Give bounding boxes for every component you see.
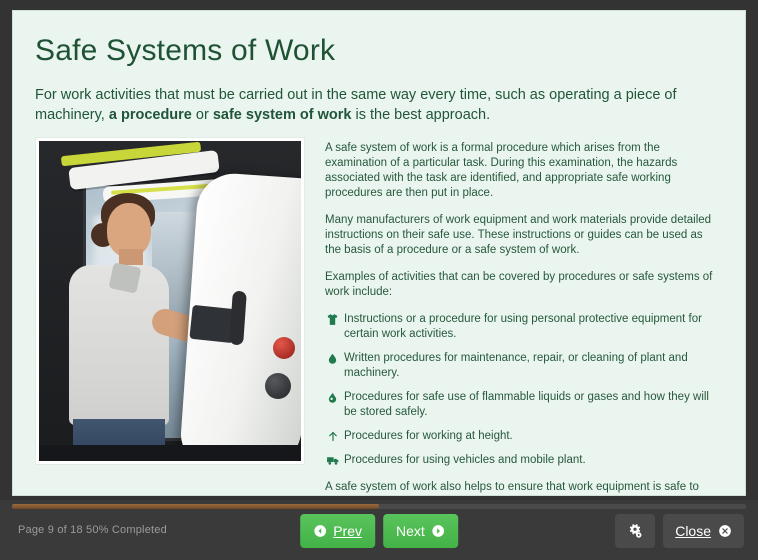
list-item-label: Procedures for using vehicles and mobile…: [344, 454, 586, 466]
list-item-label: Instructions or a procedure for using pe…: [344, 313, 702, 340]
prev-button-label: Prev: [333, 523, 362, 539]
close-button[interactable]: Close: [663, 514, 744, 548]
next-button[interactable]: Next: [383, 514, 458, 548]
arrow-circle-right-icon: [431, 524, 445, 538]
player-controls: Close: [615, 514, 744, 548]
settings-button[interactable]: [615, 514, 655, 548]
course-player: Safe Systems of Work For work activities…: [0, 0, 758, 560]
arrow-circle-left-icon: [313, 524, 327, 538]
slide-panel: Safe Systems of Work For work activities…: [12, 10, 746, 496]
worker-machine-photo: [39, 141, 301, 461]
machine-knob: [265, 373, 291, 399]
emergency-stop-button: [273, 337, 295, 359]
cogs-icon: [627, 523, 643, 539]
times-circle-icon: [718, 524, 732, 538]
body-paragraph-1: A safe system of work is a formal proced…: [325, 141, 719, 201]
prev-button[interactable]: Prev: [300, 514, 375, 548]
up-arrow-icon: [325, 429, 340, 444]
list-item: Procedures for using vehicles and mobile…: [325, 453, 719, 468]
body-paragraph-2: Many manufacturers of work equipment and…: [325, 213, 719, 258]
list-item-label: Procedures for safe use of flammable liq…: [344, 391, 709, 418]
intro-bold-2: safe system of work: [213, 107, 352, 123]
list-item: Procedures for safe use of flammable liq…: [325, 390, 719, 420]
intro-text-2: is the best approach.: [351, 107, 490, 123]
next-button-label: Next: [396, 523, 425, 539]
intro-bold-1: a procedure: [109, 107, 192, 123]
progress-bar-fill: [12, 504, 379, 509]
page-title: Safe Systems of Work: [35, 33, 719, 69]
intro-paragraph: For work activities that must be carried…: [35, 85, 719, 125]
flammable-droplet-icon: [325, 390, 340, 405]
slide-body-copy: A safe system of work is a formal proced…: [325, 137, 719, 496]
slide-image-frame: [35, 137, 305, 465]
droplet-icon: [325, 351, 340, 366]
truck-icon: [325, 453, 340, 468]
tshirt-icon: [325, 312, 340, 327]
list-item: Instructions or a procedure for using pe…: [325, 312, 719, 342]
progress-status-text: Page 9 of 18 50% Completed: [18, 524, 167, 536]
list-item-label: Procedures for working at height.: [344, 430, 513, 442]
list-item: Procedures for working at height.: [325, 429, 719, 444]
list-item-label: Written procedures for maintenance, repa…: [344, 352, 688, 379]
floor: [39, 445, 301, 461]
examples-list: Instructions or a procedure for using pe…: [325, 312, 719, 468]
intro-text-mid: or: [192, 107, 213, 123]
navigation-buttons: Prev Next: [300, 514, 458, 548]
list-item: Written procedures for maintenance, repa…: [325, 351, 719, 381]
body-paragraph-3: Examples of activities that can be cover…: [325, 270, 719, 300]
person-collar: [109, 262, 142, 293]
close-button-label: Close: [675, 523, 711, 539]
progress-bar[interactable]: [12, 504, 746, 509]
player-toolbar: Page 9 of 18 50% Completed Prev Next: [0, 500, 758, 560]
closing-paragraph: A safe system of work also helps to ensu…: [325, 480, 719, 496]
content-columns: A safe system of work is a formal proced…: [35, 137, 719, 496]
